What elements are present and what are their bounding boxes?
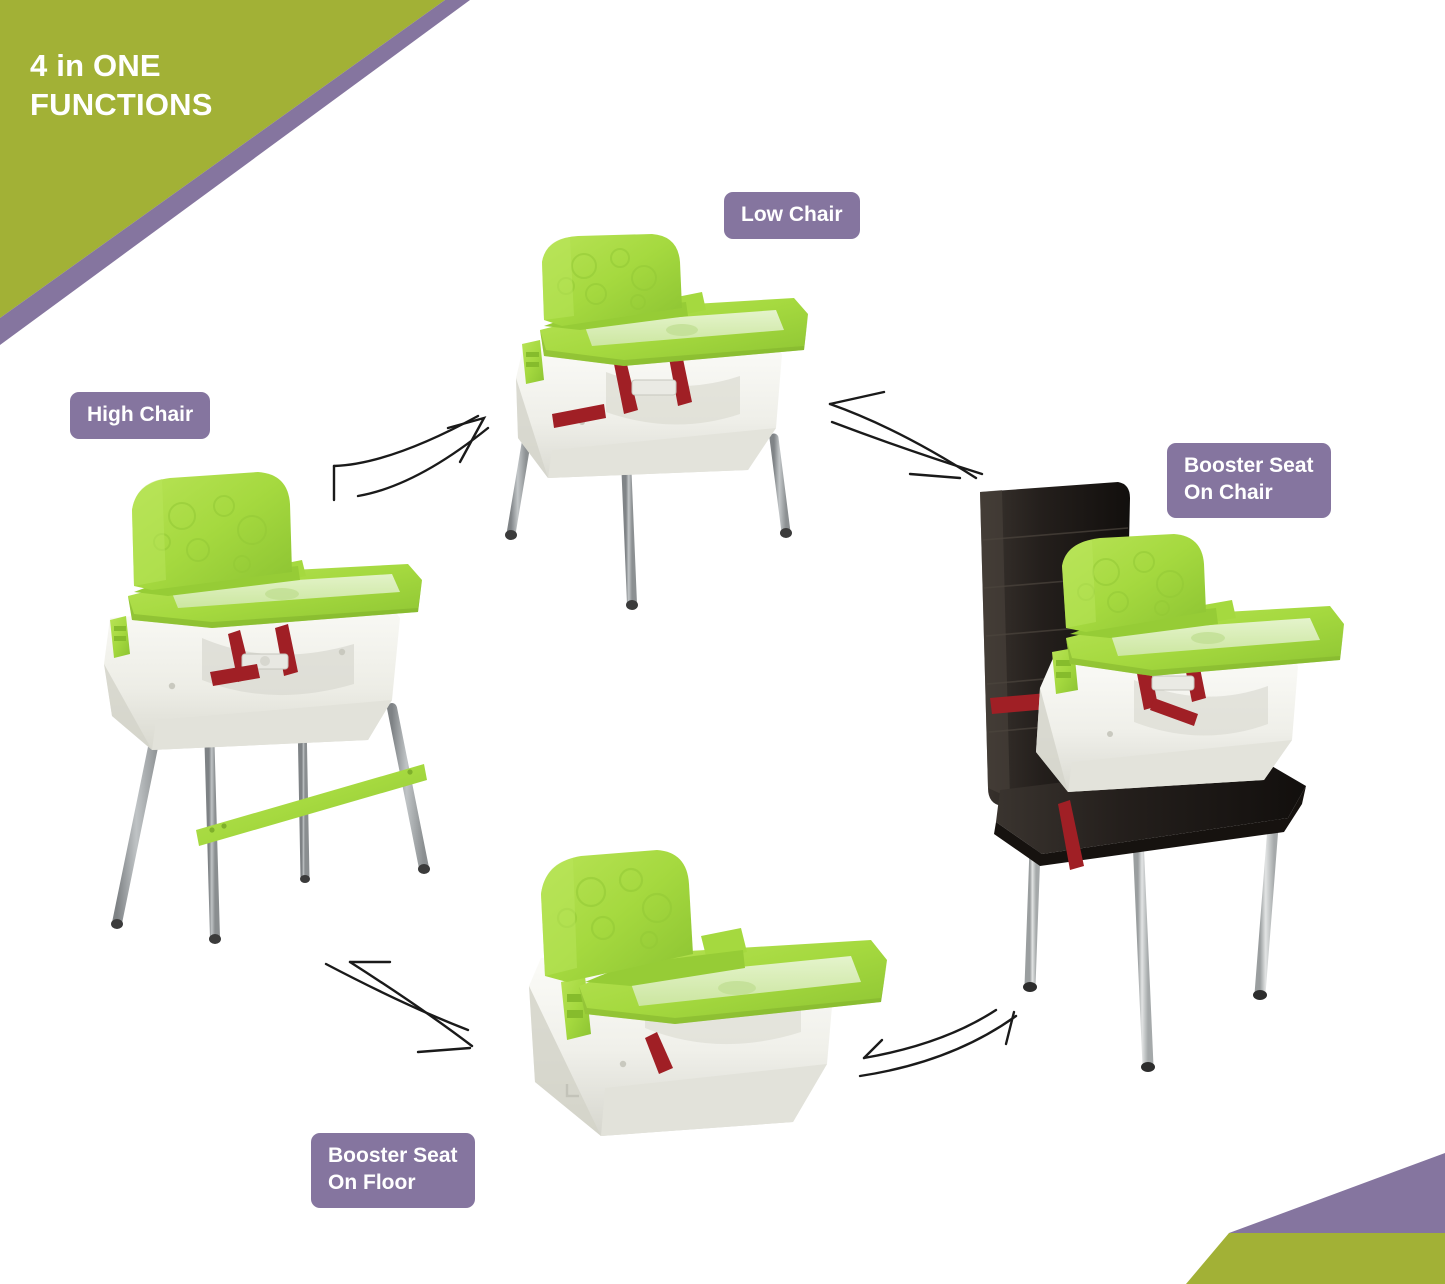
label-high-chair: High Chair [70, 392, 210, 439]
product-image-booster-seat-on-chair [958, 466, 1348, 1086]
arrow-booster-on-floor-to-high-chair [300, 948, 525, 1073]
product-image-low-chair [486, 232, 816, 612]
banner-title: 4 in ONE FUNCTIONS [30, 46, 213, 125]
high-chair-footrest-bar [196, 764, 427, 846]
low-chair-leg-feet [505, 528, 792, 610]
infographic-canvas: 4 in ONE FUNCTIONS Low Chair High Chair … [0, 0, 1445, 1284]
bottom-right-purple-triangle [1229, 1153, 1445, 1233]
high-chair-leg-feet [111, 864, 430, 944]
high-chair-backrest [132, 472, 292, 590]
product-image-high-chair [92, 468, 442, 948]
label-booster-seat-on-floor: Booster Seat On Floor [311, 1133, 475, 1208]
label-low-chair: Low Chair [724, 192, 860, 239]
product-image-booster-seat-on-floor [505, 836, 895, 1156]
label-booster-seat-on-chair: Booster Seat On Chair [1167, 443, 1331, 518]
bottom-right-green-triangle [1186, 1233, 1445, 1284]
